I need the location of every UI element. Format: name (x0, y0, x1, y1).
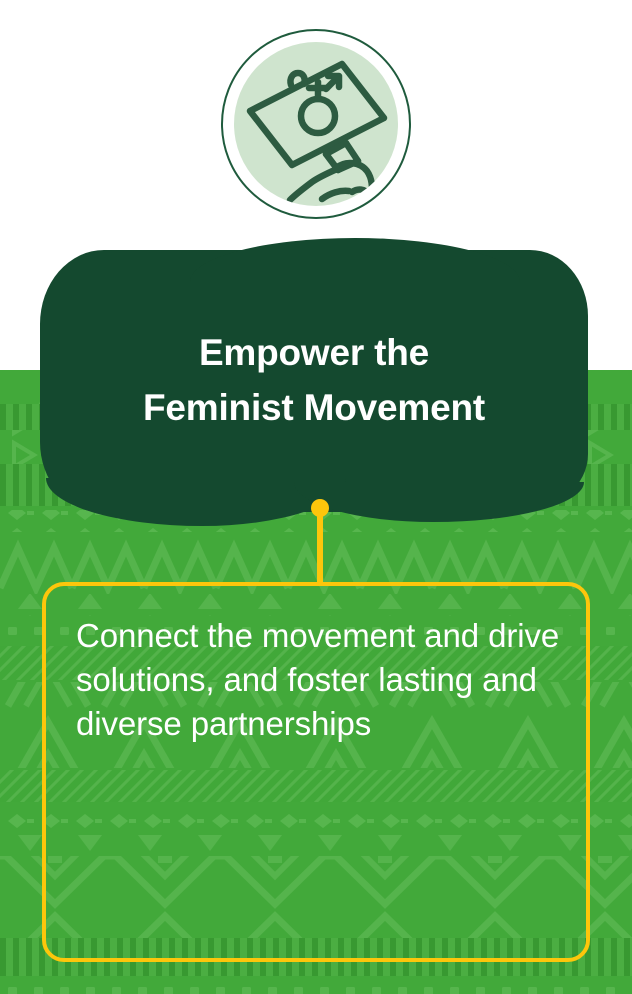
description-card: Connect the movement and drive solutions… (42, 582, 590, 962)
page-title: Empower the Feminist Movement (40, 250, 588, 512)
description-text: Connect the movement and drive solutions… (76, 614, 560, 746)
page-title-line-1: Empower the (199, 327, 429, 380)
protest-sign-gender-symbol-icon (234, 42, 398, 206)
icon-badge (221, 29, 411, 219)
infographic-card: Empower the Feminist Movement (0, 0, 632, 994)
page-title-line-2: Feminist Movement (143, 382, 485, 435)
title-card: Empower the Feminist Movement (40, 250, 588, 512)
connector-line (317, 508, 323, 586)
connector-dot (311, 499, 329, 517)
icon-badge-fill (234, 42, 398, 206)
